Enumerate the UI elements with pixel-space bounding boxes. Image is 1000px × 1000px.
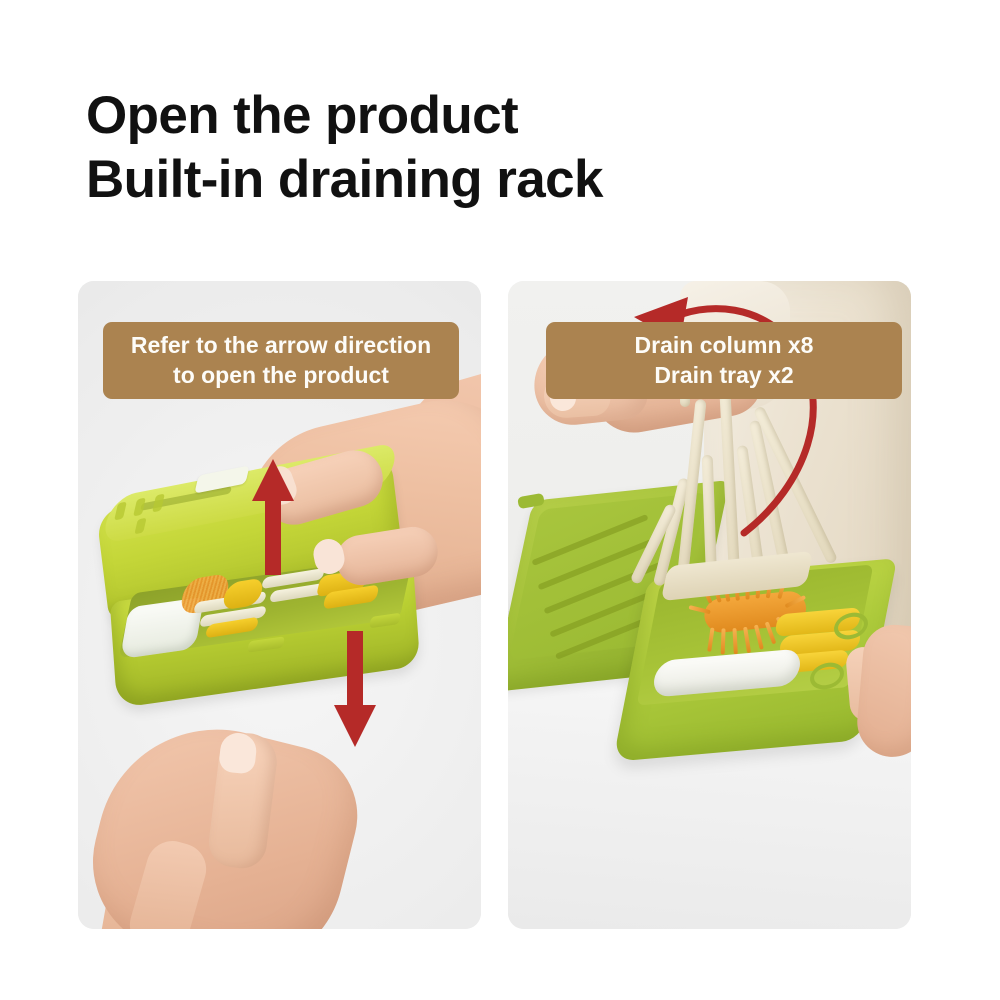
brush-bristle <box>754 625 764 650</box>
panel-open-product: Refer to the arrow direction to open the… <box>78 281 481 929</box>
caption-line-1: Drain column x8 <box>562 330 886 360</box>
caption-line-2: to open the product <box>119 360 443 390</box>
brush-bristle <box>707 628 714 652</box>
brush-bristle <box>732 628 737 654</box>
brush-bristle <box>743 627 751 653</box>
caption-draining-rack: Drain column x8 Drain tray x2 <box>546 322 902 399</box>
brush-bristle <box>721 628 726 654</box>
caption-line-1: Refer to the arrow direction <box>119 330 443 360</box>
caption-open-product: Refer to the arrow direction to open the… <box>103 322 459 399</box>
page-title-line-1: Open the product <box>86 84 886 148</box>
panel-row: Refer to the arrow direction to open the… <box>78 281 926 929</box>
page-title-line-2: Built-in draining rack <box>86 148 886 212</box>
product-feature-page: Open the product Built-in draining rack <box>0 0 1000 1000</box>
arrow-down-icon <box>332 629 378 749</box>
page-title: Open the product Built-in draining rack <box>86 84 886 212</box>
arrow-up-icon <box>250 457 296 577</box>
panel-draining-rack: Drain column x8 Drain tray x2 <box>508 281 911 929</box>
caption-line-2: Drain tray x2 <box>562 360 886 390</box>
